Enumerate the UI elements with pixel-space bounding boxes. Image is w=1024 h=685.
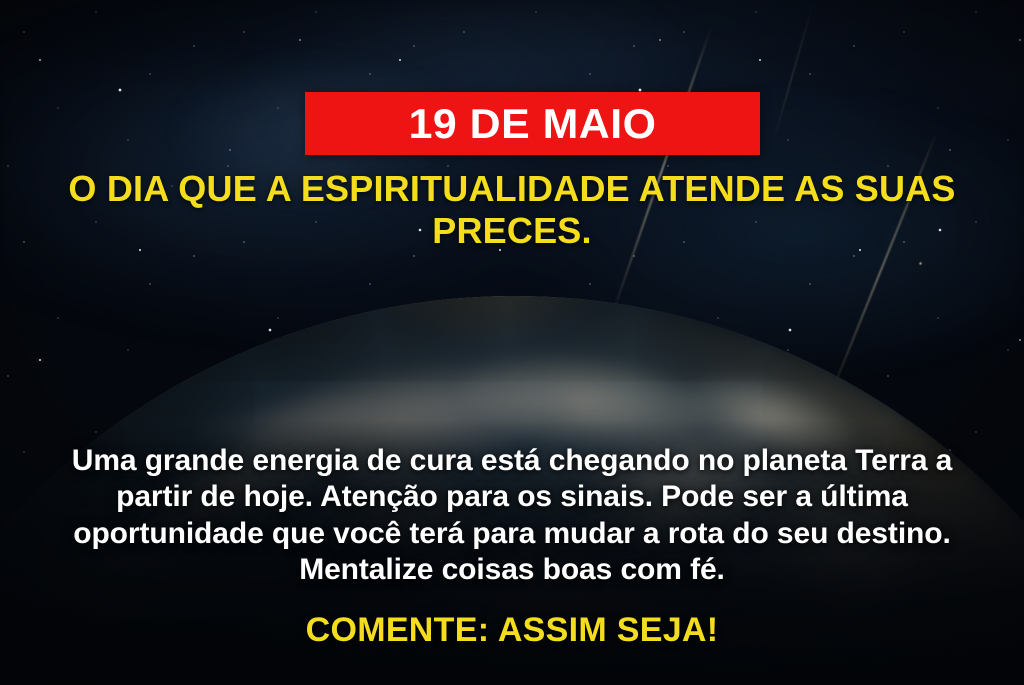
call-to-action-label: COMENTE: ASSIM SEJA! [0,612,1024,649]
date-banner-label: 19 DE MAIO [409,103,657,145]
page-title: O DIA QUE A ESPIRITUALIDADE ATENDE AS SU… [0,168,1024,252]
body-message: Uma grande energia de cura está chegando… [0,443,1024,588]
date-banner: 19 DE MAIO [305,92,760,155]
poster-content: 19 DE MAIO O DIA QUE A ESPIRITUALIDADE A… [0,0,1024,685]
spiritual-message-poster: 19 DE MAIO O DIA QUE A ESPIRITUALIDADE A… [0,0,1024,685]
